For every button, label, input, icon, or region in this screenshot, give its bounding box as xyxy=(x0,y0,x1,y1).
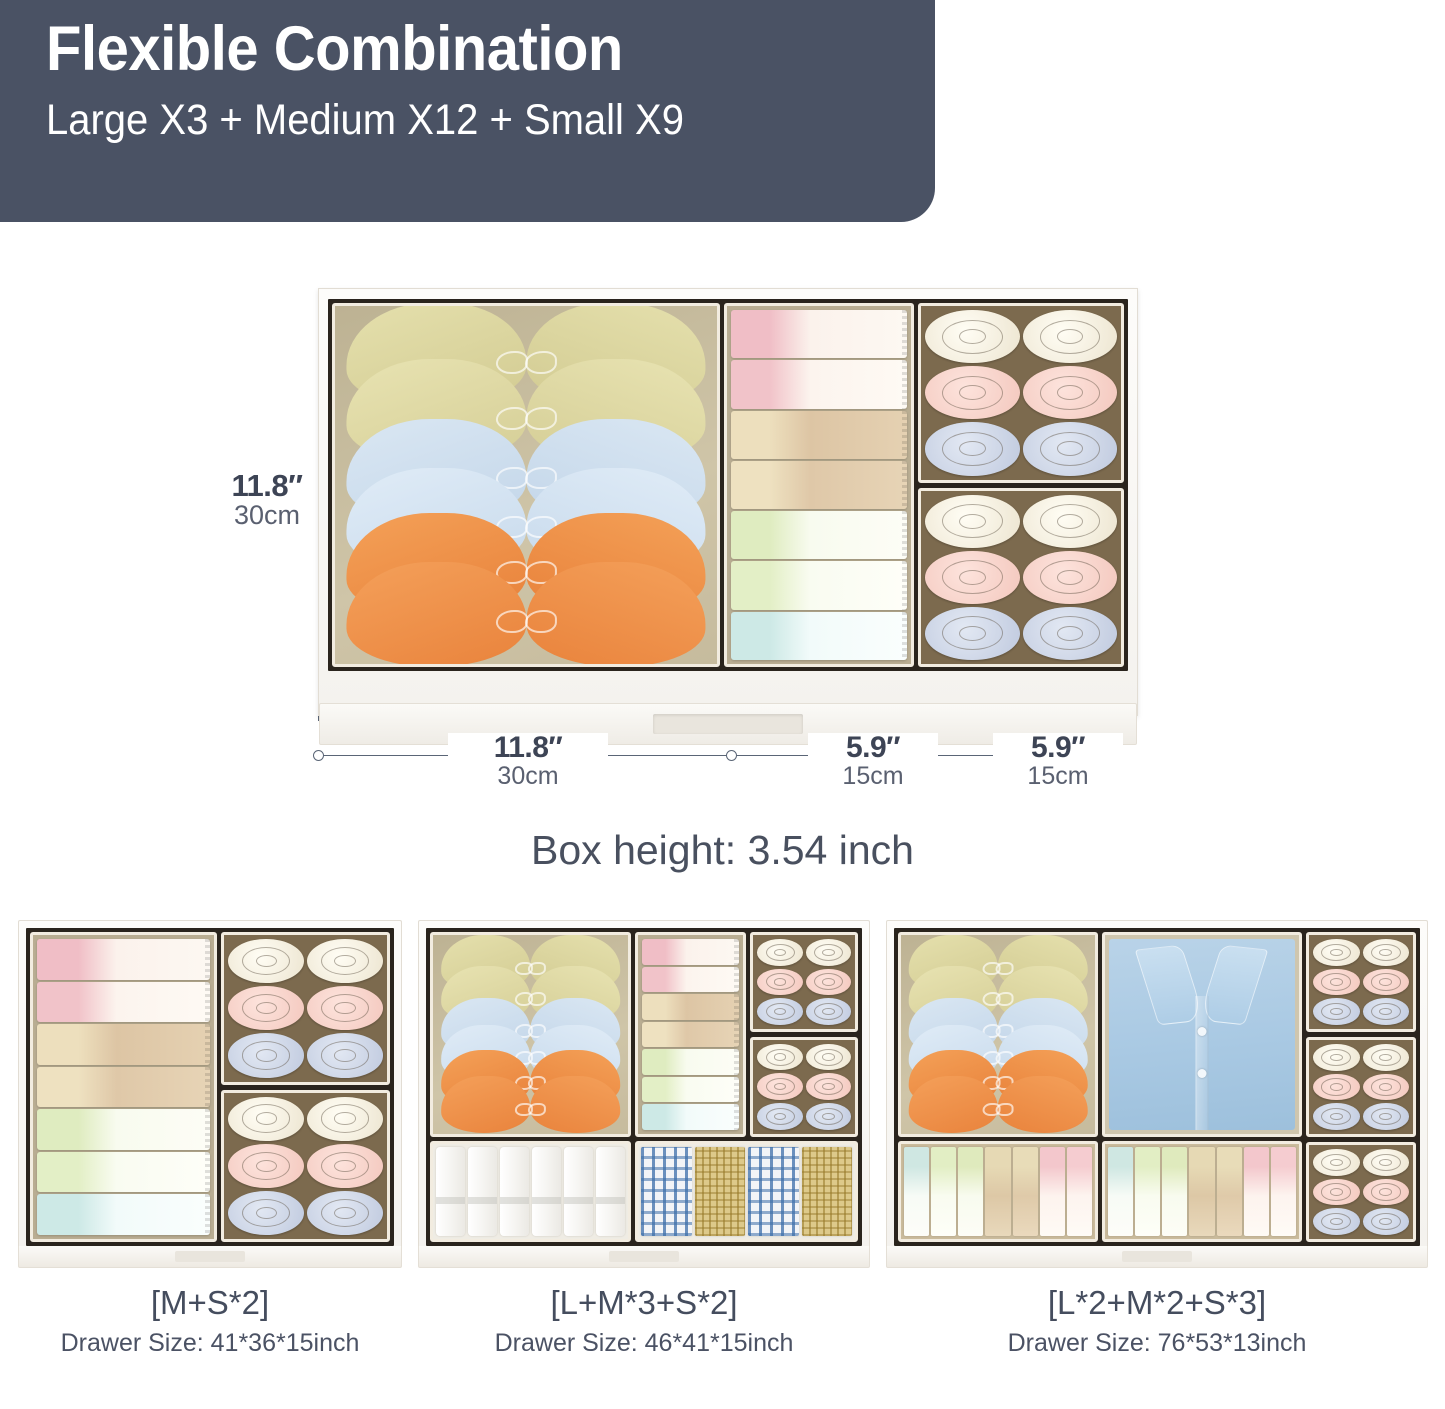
towel-roll-compartment[interactable] xyxy=(430,1141,631,1242)
rolled-sock xyxy=(1023,495,1117,548)
width-label-medium: 5.9″ 15cm xyxy=(808,733,938,791)
panel-bottom-row xyxy=(430,1141,858,1242)
panel-drawer-interior xyxy=(426,928,862,1246)
width-cm-value: 15cm xyxy=(998,763,1118,791)
width-cm-value: 30cm xyxy=(453,763,603,791)
rolled-sock xyxy=(228,1191,304,1235)
large-bra-compartment[interactable] xyxy=(898,932,1098,1137)
panel-caption: [L+M*3+S*2] Drawer Size: 46*41*15inch xyxy=(418,1282,870,1358)
folded-garment xyxy=(731,310,907,358)
folded-garment xyxy=(642,994,739,1020)
variant-panel-l2-plus-m2-plus-s3: [L*2+M*2+S*3] Drawer Size: 76*53*13inch xyxy=(886,920,1428,1358)
bra-bow-icon xyxy=(983,1103,1013,1120)
folded-garment xyxy=(642,967,739,993)
bra-stack xyxy=(339,310,713,660)
rolled-sock xyxy=(1313,1179,1359,1206)
rolled-sock xyxy=(228,986,304,1030)
variant-panel-l-plus-m3-plus-s2: [L+M*3+S*2] Drawer Size: 46*41*15inch xyxy=(418,920,870,1358)
rolled-sock xyxy=(1313,998,1359,1025)
panel-bottom-row xyxy=(898,1141,1302,1242)
folded-garment xyxy=(37,1109,210,1150)
rolled-sock xyxy=(1023,607,1117,660)
panel-drawer-frame xyxy=(18,920,402,1246)
small-sock-compartment-3[interactable] xyxy=(1306,1142,1416,1242)
rolled-sock xyxy=(757,939,802,966)
rolled-sock xyxy=(228,1097,304,1141)
rolled-sock xyxy=(806,939,851,966)
rolled-sock xyxy=(806,998,851,1025)
rolled-sock xyxy=(228,1033,304,1077)
folded-garment xyxy=(731,612,907,660)
small-compartment-column xyxy=(750,932,858,1137)
rolled-sock xyxy=(1363,1044,1409,1071)
height-dimension-label: 11.8″ 30cm xyxy=(222,470,312,531)
small-sock-compartment-top[interactable] xyxy=(918,303,1124,483)
vertical-folded-item xyxy=(1040,1147,1065,1236)
small-compartment-column xyxy=(221,932,390,1242)
plaid-fold-compartment[interactable] xyxy=(635,1141,858,1242)
panel-drawer-front[interactable] xyxy=(18,1246,402,1268)
small-sock-compartment-2[interactable] xyxy=(1306,1037,1416,1137)
rolled-sock xyxy=(1313,1149,1359,1176)
rolled-sock xyxy=(1363,1179,1409,1206)
bra-item xyxy=(346,562,705,667)
folded-garment xyxy=(642,1049,739,1075)
panel-drawer-front[interactable] xyxy=(886,1246,1428,1268)
hero-section: 11.8″ 30cm xyxy=(0,255,1445,895)
rolled-towel xyxy=(500,1147,529,1236)
rolled-towel xyxy=(564,1147,593,1236)
shirt-placket xyxy=(1196,996,1209,1129)
medium-folded-compartment[interactable] xyxy=(724,303,914,667)
small-sock-compartment-top[interactable] xyxy=(221,932,390,1085)
rolled-sock xyxy=(1313,1074,1359,1101)
vertical-folded-item xyxy=(1189,1147,1214,1236)
plaid-folded-item xyxy=(802,1147,852,1236)
drawer-interior xyxy=(328,299,1128,671)
rolled-towel xyxy=(596,1147,625,1236)
panel-drawer-front[interactable] xyxy=(418,1246,870,1268)
vertical-folded-item xyxy=(931,1147,956,1236)
rolled-sock xyxy=(307,1033,383,1077)
rolled-sock xyxy=(925,366,1019,419)
shirt-button xyxy=(1198,1027,1207,1036)
variant-panels: [M+S*2] Drawer Size: 41*36*15inch xyxy=(0,920,1445,1409)
small-sock-compartment-top[interactable] xyxy=(750,932,858,1032)
rolled-sock xyxy=(1313,939,1359,966)
width-label-small: 5.9″ 15cm xyxy=(993,733,1123,791)
folded-garment xyxy=(37,939,210,980)
panel-top-row xyxy=(430,932,858,1137)
width-label-large: 11.8″ 30cm xyxy=(448,733,608,791)
folded-garment xyxy=(731,461,907,509)
rolled-sock xyxy=(925,607,1019,660)
vertical-folded-item xyxy=(904,1147,929,1236)
drawer-handle[interactable] xyxy=(175,1251,245,1262)
folded-garment xyxy=(642,1104,739,1130)
panel-title: [L*2+M*2+S*3] xyxy=(886,1282,1428,1323)
large-bra-compartment[interactable] xyxy=(430,932,631,1137)
shirt-collar-right xyxy=(1198,944,1269,1025)
folded-garment xyxy=(37,982,210,1023)
panel-drawer-size: Drawer Size: 41*36*15inch xyxy=(18,1329,402,1358)
rolled-sock xyxy=(1313,1208,1359,1235)
rolled-sock xyxy=(1363,969,1409,996)
rolled-towel xyxy=(532,1147,561,1236)
rolled-sock xyxy=(806,1103,851,1130)
folded-shirt xyxy=(1109,939,1295,1130)
folded-garment xyxy=(642,939,739,965)
vertical-folded-item xyxy=(1013,1147,1038,1236)
vertical-folded-item xyxy=(1135,1147,1160,1236)
large-shirt-compartment[interactable] xyxy=(1102,932,1302,1137)
banner-subtitle: Large X3 + Medium X12 + Small X9 xyxy=(46,96,873,145)
rolled-sock xyxy=(757,1044,802,1071)
rolled-sock xyxy=(1363,1208,1409,1235)
drawer-handle[interactable] xyxy=(1122,1251,1192,1262)
rolled-towel xyxy=(468,1147,497,1236)
rolled-sock xyxy=(1313,969,1359,996)
shirt-button xyxy=(1198,1069,1207,1078)
rolled-sock xyxy=(228,1144,304,1188)
vertical-folded-item xyxy=(958,1147,983,1236)
folded-garment xyxy=(731,411,907,459)
bra-bow-icon xyxy=(496,610,557,642)
rolled-sock xyxy=(925,551,1019,604)
bra-stack xyxy=(437,939,624,1130)
rolled-sock xyxy=(1313,1103,1359,1130)
folded-garment xyxy=(37,1067,210,1108)
rolled-sock xyxy=(1363,998,1409,1025)
folded-garment xyxy=(731,511,907,559)
panel-drawer-frame xyxy=(418,920,870,1246)
panel-drawer-interior xyxy=(26,928,394,1246)
rolled-sock xyxy=(757,1073,802,1100)
rolled-sock xyxy=(1313,1044,1359,1071)
rolled-sock xyxy=(1023,422,1117,475)
rolled-sock xyxy=(757,1103,802,1130)
width-dimension-row: 11.8″ 30cm 5.9″ 15cm 5.9″ 15cm xyxy=(318,745,1118,815)
rolled-sock xyxy=(757,969,802,996)
medium-folded-compartment[interactable] xyxy=(635,932,746,1137)
folded-garment xyxy=(731,561,907,609)
rolled-sock xyxy=(1023,551,1117,604)
rolled-sock xyxy=(806,1044,851,1071)
rolled-sock xyxy=(925,495,1019,548)
vertical-folded-item xyxy=(1108,1147,1133,1236)
dimension-node xyxy=(313,750,324,761)
large-bra-compartment[interactable] xyxy=(332,303,720,667)
panel-drawer-size: Drawer Size: 76*53*13inch xyxy=(886,1329,1428,1358)
width-inch-value: 11.8″ xyxy=(453,733,603,763)
rolled-sock xyxy=(925,310,1019,363)
medium-folded-compartment[interactable] xyxy=(30,932,217,1242)
folded-garment xyxy=(37,1194,210,1235)
rolled-sock xyxy=(806,969,851,996)
folded-garment xyxy=(37,1152,210,1193)
vertical-folded-item xyxy=(1067,1147,1092,1236)
bra-item xyxy=(441,1076,621,1133)
box-height-note: Box height: 3.54 inch xyxy=(0,827,1445,874)
panel-drawer-interior xyxy=(894,928,1420,1246)
panel-drawer-size: Drawer Size: 46*41*15inch xyxy=(418,1329,870,1358)
rolled-sock xyxy=(1363,1149,1409,1176)
rolled-sock xyxy=(1363,1103,1409,1130)
bra-item xyxy=(909,1076,1088,1133)
folded-garment xyxy=(642,1077,739,1103)
dimension-node xyxy=(726,750,737,761)
banner-title: Flexible Combination xyxy=(46,16,864,82)
rolled-towel xyxy=(436,1147,465,1236)
panel-drawer-frame xyxy=(886,920,1428,1246)
plaid-folded-item xyxy=(641,1147,691,1236)
rolled-sock xyxy=(1023,366,1117,419)
rolled-sock xyxy=(1023,310,1117,363)
width-inch-value: 5.9″ xyxy=(813,733,933,763)
rolled-sock xyxy=(228,939,304,983)
small-compartment-column xyxy=(918,303,1124,667)
rolled-sock xyxy=(1363,1074,1409,1101)
drawer-handle[interactable] xyxy=(609,1251,679,1262)
rolled-sock xyxy=(925,422,1019,475)
small-sock-compartment-bottom[interactable] xyxy=(221,1090,390,1243)
vertical-folded-item xyxy=(1162,1147,1187,1236)
medium-vertical-fold-compartment-2[interactable] xyxy=(1102,1141,1302,1242)
small-sock-compartment-1[interactable] xyxy=(1306,932,1416,1032)
folded-garment xyxy=(642,1022,739,1048)
rolled-sock xyxy=(307,1097,383,1141)
plaid-folded-item xyxy=(748,1147,798,1236)
small-sock-compartment-bottom[interactable] xyxy=(918,488,1124,668)
panel-main-area xyxy=(898,932,1302,1242)
bra-bow-icon xyxy=(515,1103,546,1120)
medium-vertical-fold-compartment[interactable] xyxy=(898,1141,1098,1242)
vertical-folded-item xyxy=(1217,1147,1242,1236)
height-cm-value: 30cm xyxy=(222,501,312,531)
folded-garment xyxy=(37,1024,210,1065)
width-inch-value: 5.9″ xyxy=(998,733,1118,763)
variant-panel-m-plus-s2: [M+S*2] Drawer Size: 41*36*15inch xyxy=(18,920,402,1358)
vertical-folded-item xyxy=(1244,1147,1269,1236)
rolled-sock xyxy=(307,986,383,1030)
header-banner: Flexible Combination Large X3 + Medium X… xyxy=(0,0,935,222)
panel-caption: [M+S*2] Drawer Size: 41*36*15inch xyxy=(18,1282,402,1358)
small-compartment-column xyxy=(1306,932,1416,1242)
main-drawer xyxy=(318,288,1138,716)
rolled-sock xyxy=(307,1191,383,1235)
rolled-sock xyxy=(806,1073,851,1100)
rolled-sock xyxy=(1363,939,1409,966)
rolled-sock xyxy=(307,1144,383,1188)
drawer-handle[interactable] xyxy=(653,714,803,734)
rolled-sock xyxy=(757,998,802,1025)
vertical-folded-item xyxy=(1271,1147,1296,1236)
height-inch-value: 11.8″ xyxy=(222,470,312,501)
panel-top-row xyxy=(898,932,1302,1137)
panel-title: [M+S*2] xyxy=(18,1282,402,1323)
plaid-folded-item xyxy=(695,1147,745,1236)
bra-stack xyxy=(905,939,1091,1130)
folded-garment xyxy=(731,360,907,408)
small-sock-compartment-bottom[interactable] xyxy=(750,1037,858,1137)
vertical-folded-item xyxy=(985,1147,1010,1236)
panel-title: [L+M*3+S*2] xyxy=(418,1282,870,1323)
rolled-sock xyxy=(307,939,383,983)
panel-caption: [L*2+M*2+S*3] Drawer Size: 76*53*13inch xyxy=(886,1282,1428,1358)
width-cm-value: 15cm xyxy=(813,763,933,791)
